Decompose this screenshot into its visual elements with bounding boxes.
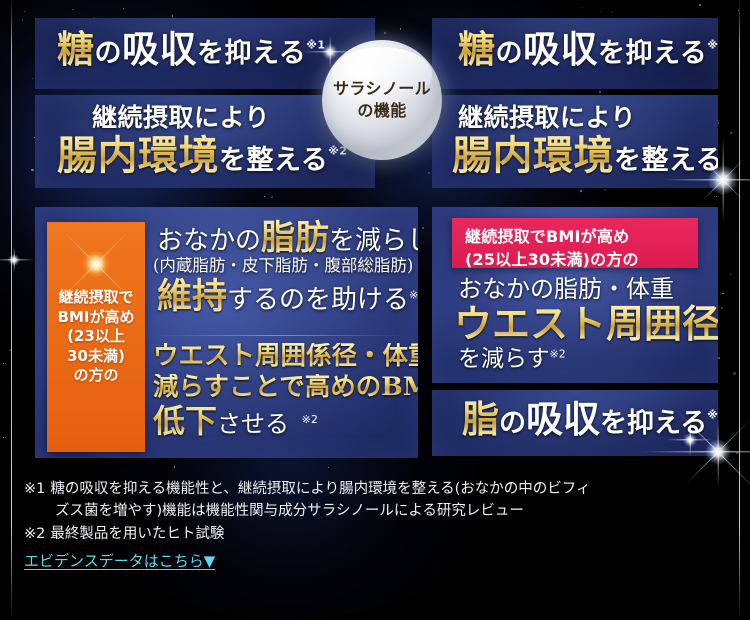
star-dot: [721, 307, 723, 309]
badge-line-1: サラシノール: [333, 78, 431, 100]
panel-right-oil: 脂の吸収を抑える※2: [432, 390, 718, 456]
right-sugar-tail: を抑える: [598, 38, 707, 69]
footnote-1: ※1 糖の吸収を抑える機能性と、継続摂取により腸内環境を整える(おなかの中のビフ…: [24, 478, 730, 500]
orange-callout-line-0: 継続摂取で: [58, 288, 133, 308]
footnote-2-text: 最終製品を用いたヒト試験: [50, 523, 730, 545]
right-oil-footnote-marker: ※2: [707, 409, 718, 422]
right-waist-footnote-marker: ※2: [550, 347, 566, 360]
orange-callout-line-3: 30未満): [67, 347, 125, 367]
right-oil-tail: を抑える: [600, 408, 707, 439]
right-waist-line3: を減らす: [458, 346, 550, 372]
panel-left-sugar: 糖の吸収を抑える※1: [35, 18, 375, 89]
pink-callout-bmi: 継続摂取でBMIが高め (25以上30未満)の方の: [452, 218, 698, 268]
footnote-1-line-2: ズス菌を増やす)機能は機能性関与成分サラシノールによる研究レビュー: [55, 500, 730, 522]
left-fat-line3-main: 維持: [157, 276, 227, 317]
star-dot: [730, 274, 731, 275]
star-dot: [400, 28, 402, 30]
right-sugar-footnote-marker: ※1: [707, 39, 718, 52]
star-dot: [581, 7, 583, 9]
frame-rule-right: [739, 0, 740, 620]
star-dot: [328, 467, 329, 468]
left-fat-line2: (内蔵脂肪・皮下脂肪・腹部総脂肪): [153, 257, 418, 274]
right-sugar-kanji-1: 糖: [458, 27, 496, 71]
right-oil-particle: の: [499, 408, 526, 439]
left-sugar-kanji-1: 糖: [57, 27, 95, 71]
orange-callout-line-4: の方の: [73, 366, 118, 386]
left-fat-line1-post: を減らし: [329, 226, 418, 256]
star-dot: [32, 78, 33, 79]
right-sugar-kanji-2: 吸収: [523, 27, 598, 71]
left-waist-line3-post: させる: [217, 410, 289, 438]
right-gut-lead: 継続摂取により: [458, 105, 636, 132]
star-dot: [422, 227, 424, 229]
infographic-stage: 糖の吸収を抑える※1 継続摂取により 腸内環境を整える※2 おなかの脂肪を減らし…: [0, 0, 750, 620]
star-dot: [172, 15, 174, 17]
left-sugar-tail: を抑える: [197, 38, 306, 69]
left-sugar-kanji-2: 吸収: [122, 27, 197, 71]
left-gut-lead: 継続摂取により: [92, 105, 270, 132]
badge-line-2: の機能: [357, 100, 406, 122]
left-sugar-particle-1: の: [95, 38, 123, 69]
star-dot: [599, 91, 601, 93]
star-dot: [699, 4, 701, 6]
evidence-data-link[interactable]: エビデンスデータはこちら▼: [24, 550, 215, 571]
footnote-1-cont: ズス菌を増やす)機能は機能性関与成分サラシノールによる研究レビュー: [24, 500, 730, 522]
star-dot: [72, 9, 74, 11]
panel-right-waist: 継続摂取でBMIが高め (25以上30未満)の方の おなかの脂肪・体重 ウエスト…: [432, 207, 718, 383]
star-dot: [604, 189, 606, 191]
left-panel-divider: [153, 335, 405, 336]
star-dot: [730, 132, 732, 134]
star-dot: [600, 11, 601, 12]
left-waist-line2: 減らすことで高めのBMIを: [153, 374, 418, 401]
pink-callout-line-1: 継続摂取でBMIが高め: [465, 225, 686, 248]
footnote-2-marker: ※2: [24, 523, 45, 545]
footnote-1-line-1: 糖の吸収を抑える機能性と、継続摂取により腸内環境を整える(おなかの中のビフィ: [50, 478, 730, 500]
star-dot: [736, 452, 738, 454]
star-dot: [31, 169, 33, 171]
panel-right-sugar: 糖の吸収を抑える※1: [432, 18, 718, 89]
star-dot: [611, 12, 612, 13]
left-fat-footnote-marker: ※2: [409, 288, 418, 301]
left-sugar-footnote-marker: ※1: [306, 39, 325, 52]
left-waist-line1: ウエスト周囲係径・体重を: [153, 343, 418, 370]
orange-callout-bmi: 継続摂取で BMIが高め (23以上 30未満) の方の: [47, 222, 145, 452]
left-gut-tail: を整える: [219, 145, 328, 176]
star-dot: [174, 466, 176, 468]
star-dot: [264, 196, 265, 197]
right-oil-kanji-2: 吸収: [526, 397, 600, 441]
star-dot: [3, 437, 4, 438]
right-gut-tail: を整える: [614, 145, 718, 176]
right-sugar-particle-1: の: [496, 38, 524, 69]
star-dot: [271, 196, 273, 198]
left-fat-line1-pre: おなかの: [157, 226, 261, 256]
right-waist-line1: おなかの脂肪・体重: [458, 277, 718, 302]
left-waist-footnote-marker: ※2: [302, 413, 318, 426]
footnotes-block: ※1 糖の吸収を抑える機能性と、継続摂取により腸内環境を整える(おなかの中のビフ…: [24, 478, 730, 571]
star-dot: [22, 20, 23, 21]
star-dot: [580, 190, 582, 192]
left-fat-line1-main: 脂肪: [261, 218, 329, 258]
star-dot: [384, 32, 386, 34]
panel-right-gut: 継続摂取により 腸内環境を整える※1: [432, 95, 718, 188]
star-dot: [722, 293, 723, 294]
footnote-1-marker: ※1: [24, 478, 45, 500]
left-fat-line3-post: するのを助ける: [227, 285, 409, 315]
star-dot: [24, 11, 25, 12]
star-dot: [721, 193, 722, 194]
right-gut-kanji: 腸内環境: [452, 132, 614, 179]
star-dot: [428, 172, 430, 174]
star-dot: [718, 357, 720, 359]
left-gut-kanji: 腸内環境: [57, 132, 219, 179]
left-waist-line3-main: 低下: [153, 402, 217, 440]
footnote-2: ※2 最終製品を用いたヒト試験: [24, 523, 730, 545]
star-dot: [3, 363, 4, 364]
star-dot: [716, 196, 717, 197]
frame-rule-left: [11, 0, 12, 620]
pink-callout-line-2: (25以上30未満)の方の: [465, 248, 686, 271]
orange-callout-line-1: BMIが高め: [58, 308, 135, 328]
right-waist-line2: ウエスト周囲径: [454, 304, 718, 344]
star-dot: [733, 372, 735, 374]
star-dot: [123, 8, 124, 9]
right-oil-kanji-1: 脂: [462, 397, 499, 441]
center-badge-sarashinol: サラシノール の機能: [322, 40, 442, 160]
orange-callout-line-2: (23以上: [67, 327, 125, 347]
